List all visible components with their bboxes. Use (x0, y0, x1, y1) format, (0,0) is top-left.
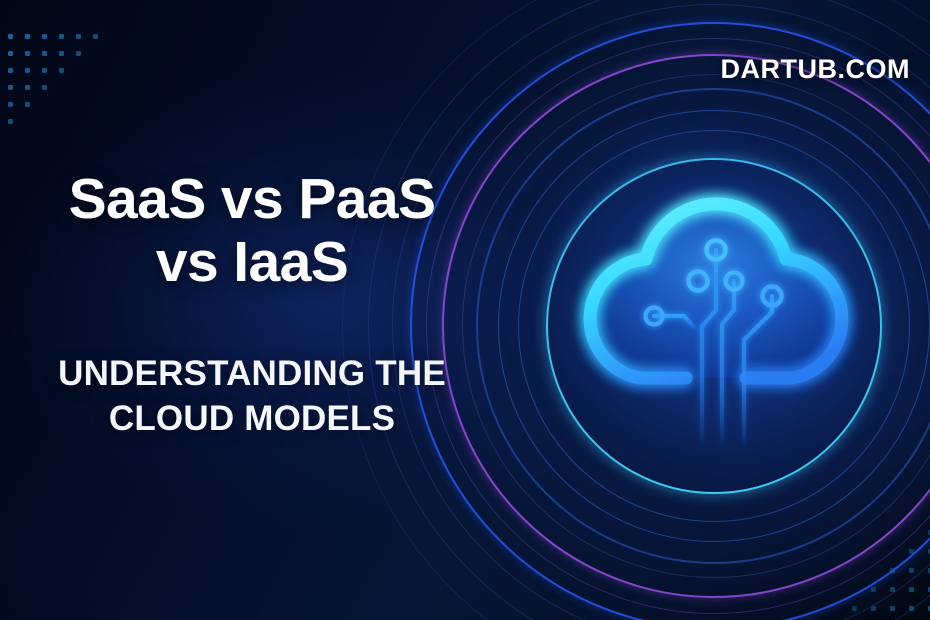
decorative-dot (909, 587, 914, 592)
poster-canvas: DARTUB.COM SaaS vs PaaS vs IaaS UNDERSTA… (0, 0, 930, 620)
decorative-dot (909, 549, 914, 554)
decorative-dot (25, 68, 30, 73)
cloud-circuit-icon (536, 150, 896, 480)
decorative-dot (871, 587, 876, 592)
decorative-dot (890, 587, 895, 592)
title-line-2: vs IaaS (8, 231, 496, 294)
title-line-1: SaaS vs PaaS (69, 167, 436, 231)
decorative-dot (8, 51, 13, 56)
decorative-dot (59, 34, 64, 39)
decorative-dot (42, 51, 47, 56)
subtitle-line-1: UNDERSTANDING THE (58, 354, 446, 393)
subtitle-line-2: CLOUD MODELS (8, 397, 496, 442)
decorative-dot (25, 102, 30, 107)
decorative-dot (909, 568, 914, 573)
decorative-dot (909, 606, 914, 611)
decorative-dot (890, 606, 895, 611)
decorative-dot (59, 68, 64, 73)
decorative-dot (42, 68, 47, 73)
decorative-dot (8, 68, 13, 73)
brand-watermark: DARTUB.COM (721, 54, 910, 85)
decorative-dot (8, 102, 13, 107)
decorative-dot (76, 51, 81, 56)
decorative-dot (871, 606, 876, 611)
decorative-dot (42, 85, 47, 90)
page-subtitle: UNDERSTANDING THE CLOUD MODELS (8, 352, 496, 442)
decorative-dot (42, 34, 47, 39)
decorative-dot (852, 606, 857, 611)
decorative-dot (8, 119, 13, 124)
decorative-dot (76, 34, 81, 39)
decorative-dot (93, 34, 98, 39)
decorative-dot (8, 85, 13, 90)
page-title: SaaS vs PaaS vs IaaS (8, 168, 496, 293)
decorative-dot (25, 51, 30, 56)
decorative-dot (25, 34, 30, 39)
decorative-dot (890, 568, 895, 573)
decorative-dot (59, 51, 64, 56)
decorative-dot (8, 34, 13, 39)
decorative-dot (25, 85, 30, 90)
